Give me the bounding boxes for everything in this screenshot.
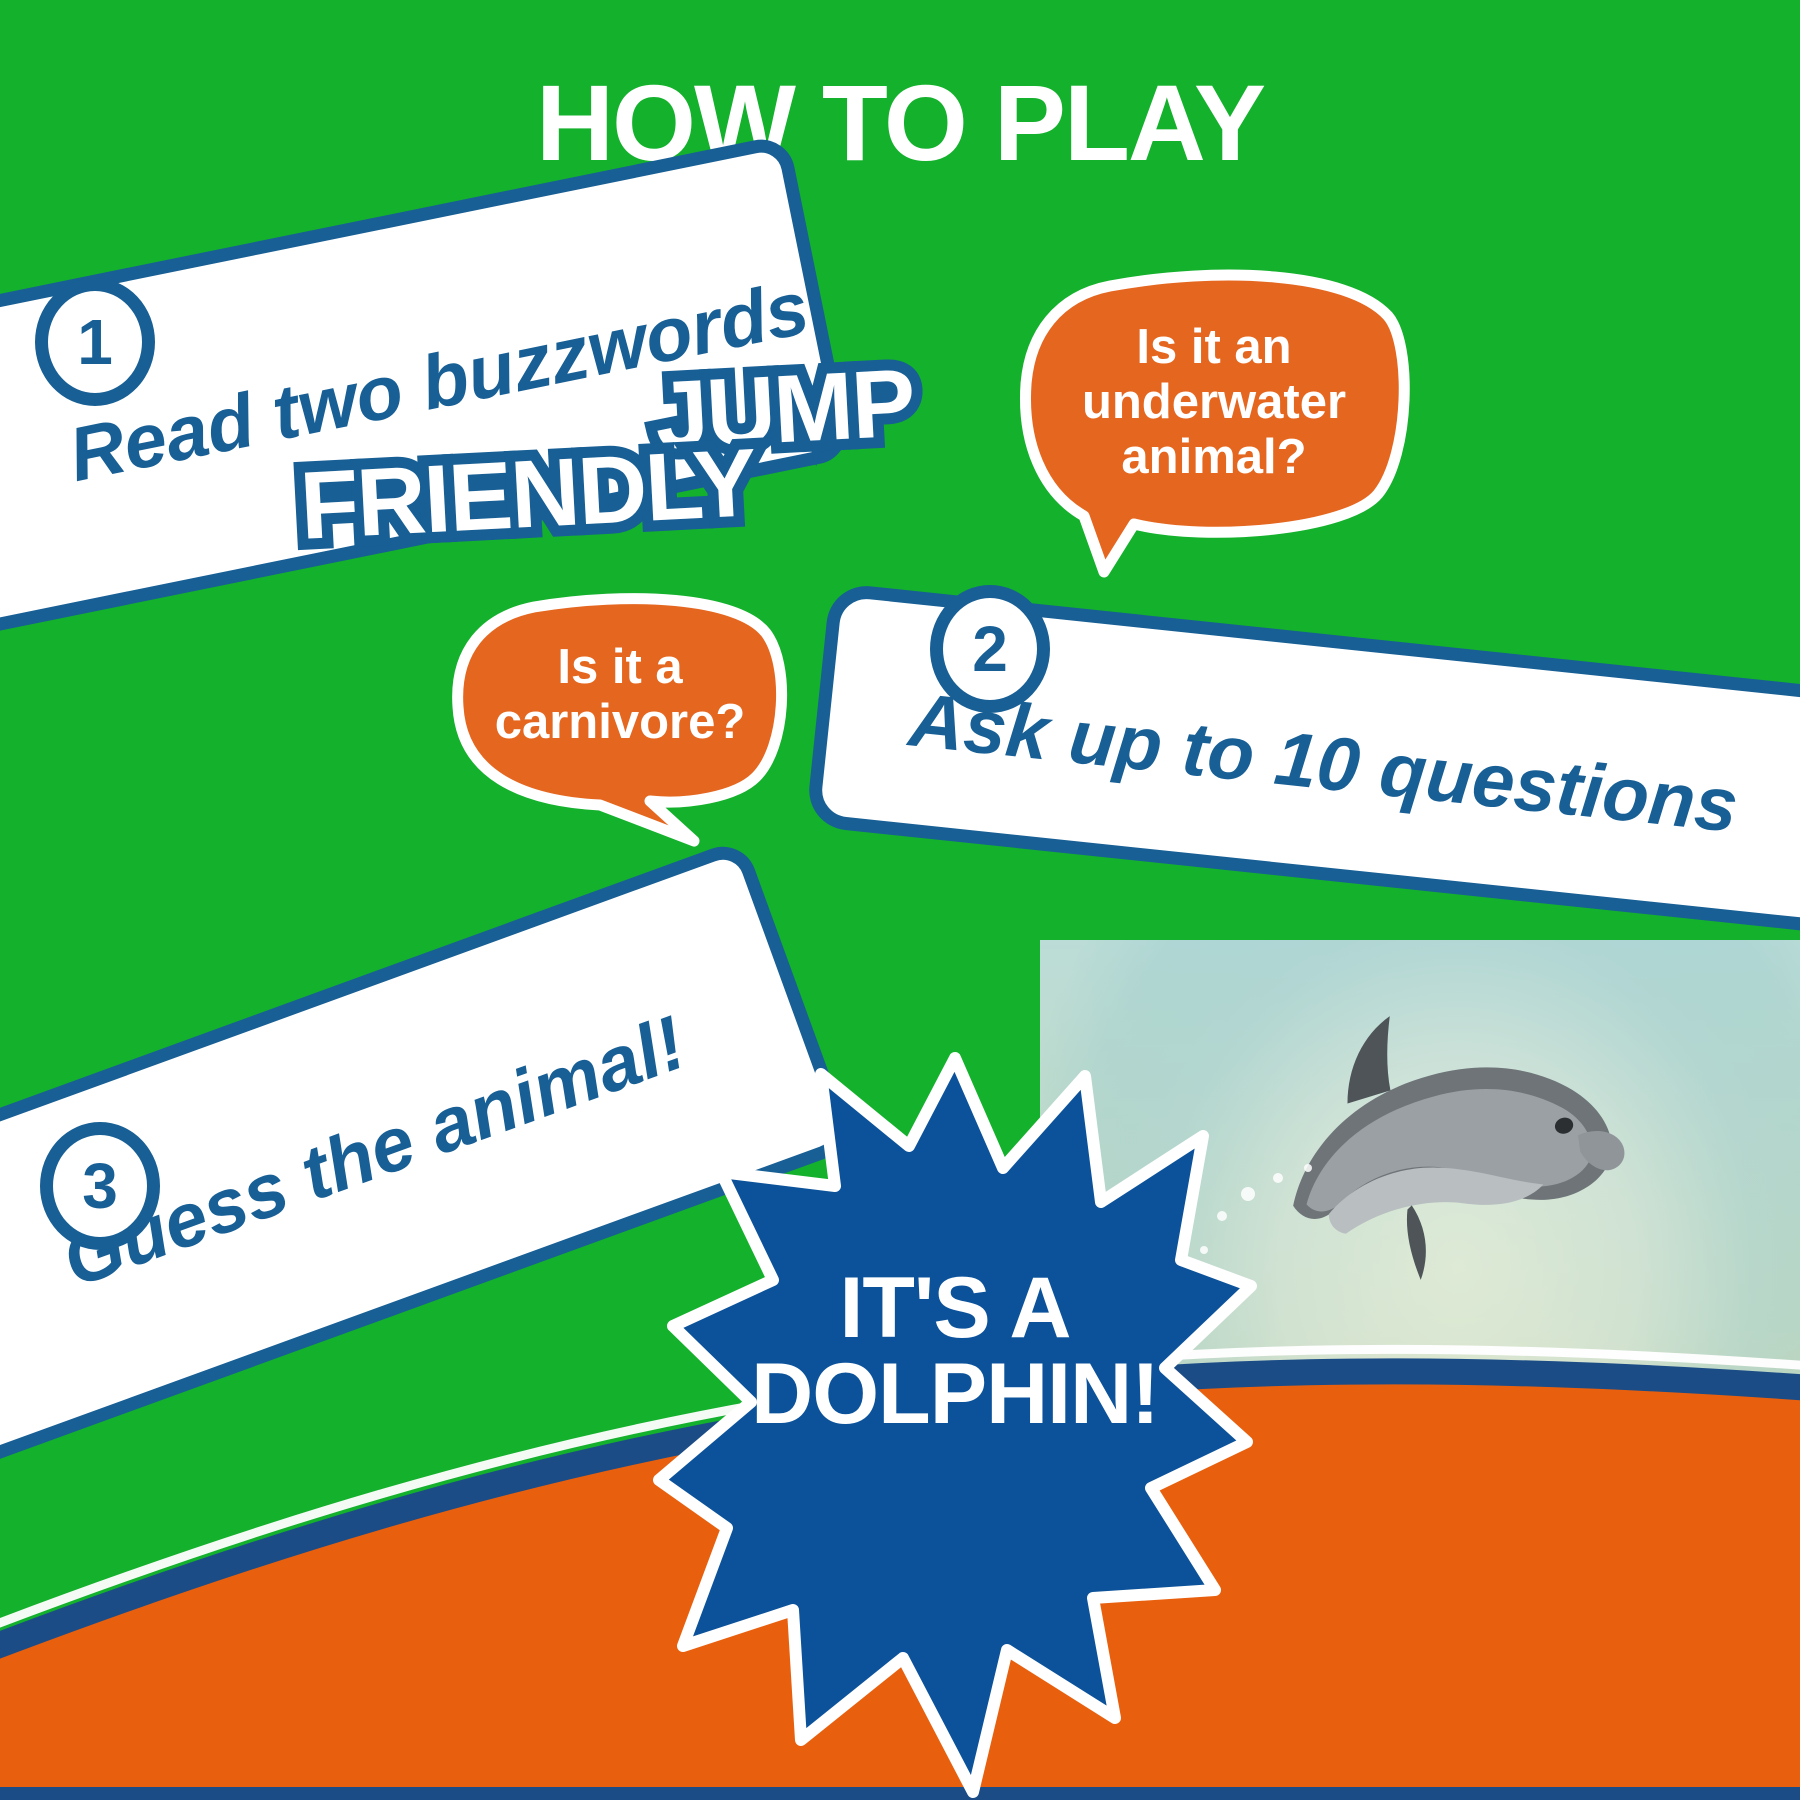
step-2-number: 2 [930,585,1050,713]
page-title: HOW TO PLAY [0,60,1800,185]
answer-starburst: IT'S A DOLPHIN! [655,1050,1255,1800]
question-bubble-carnivore: Is it a carnivore? [450,595,790,845]
step-2-label: Ask up to 10 questions [905,676,1741,849]
answer-text: IT'S A DOLPHIN! [655,1265,1255,1437]
poster-canvas: HOW TO PLAY Read two buzzwords 1 JUMP FR… [0,0,1800,1800]
step-3-number: 3 [40,1122,160,1250]
buzzword-friendly: FRIENDLY [297,428,757,562]
question-bubble-underwater: Is it an underwater animal? [1018,272,1410,582]
step-1-number: 1 [35,278,155,406]
question-bubble-carnivore-text: Is it a carnivore? [450,640,790,750]
question-bubble-underwater-text: Is it an underwater animal? [1018,320,1410,485]
